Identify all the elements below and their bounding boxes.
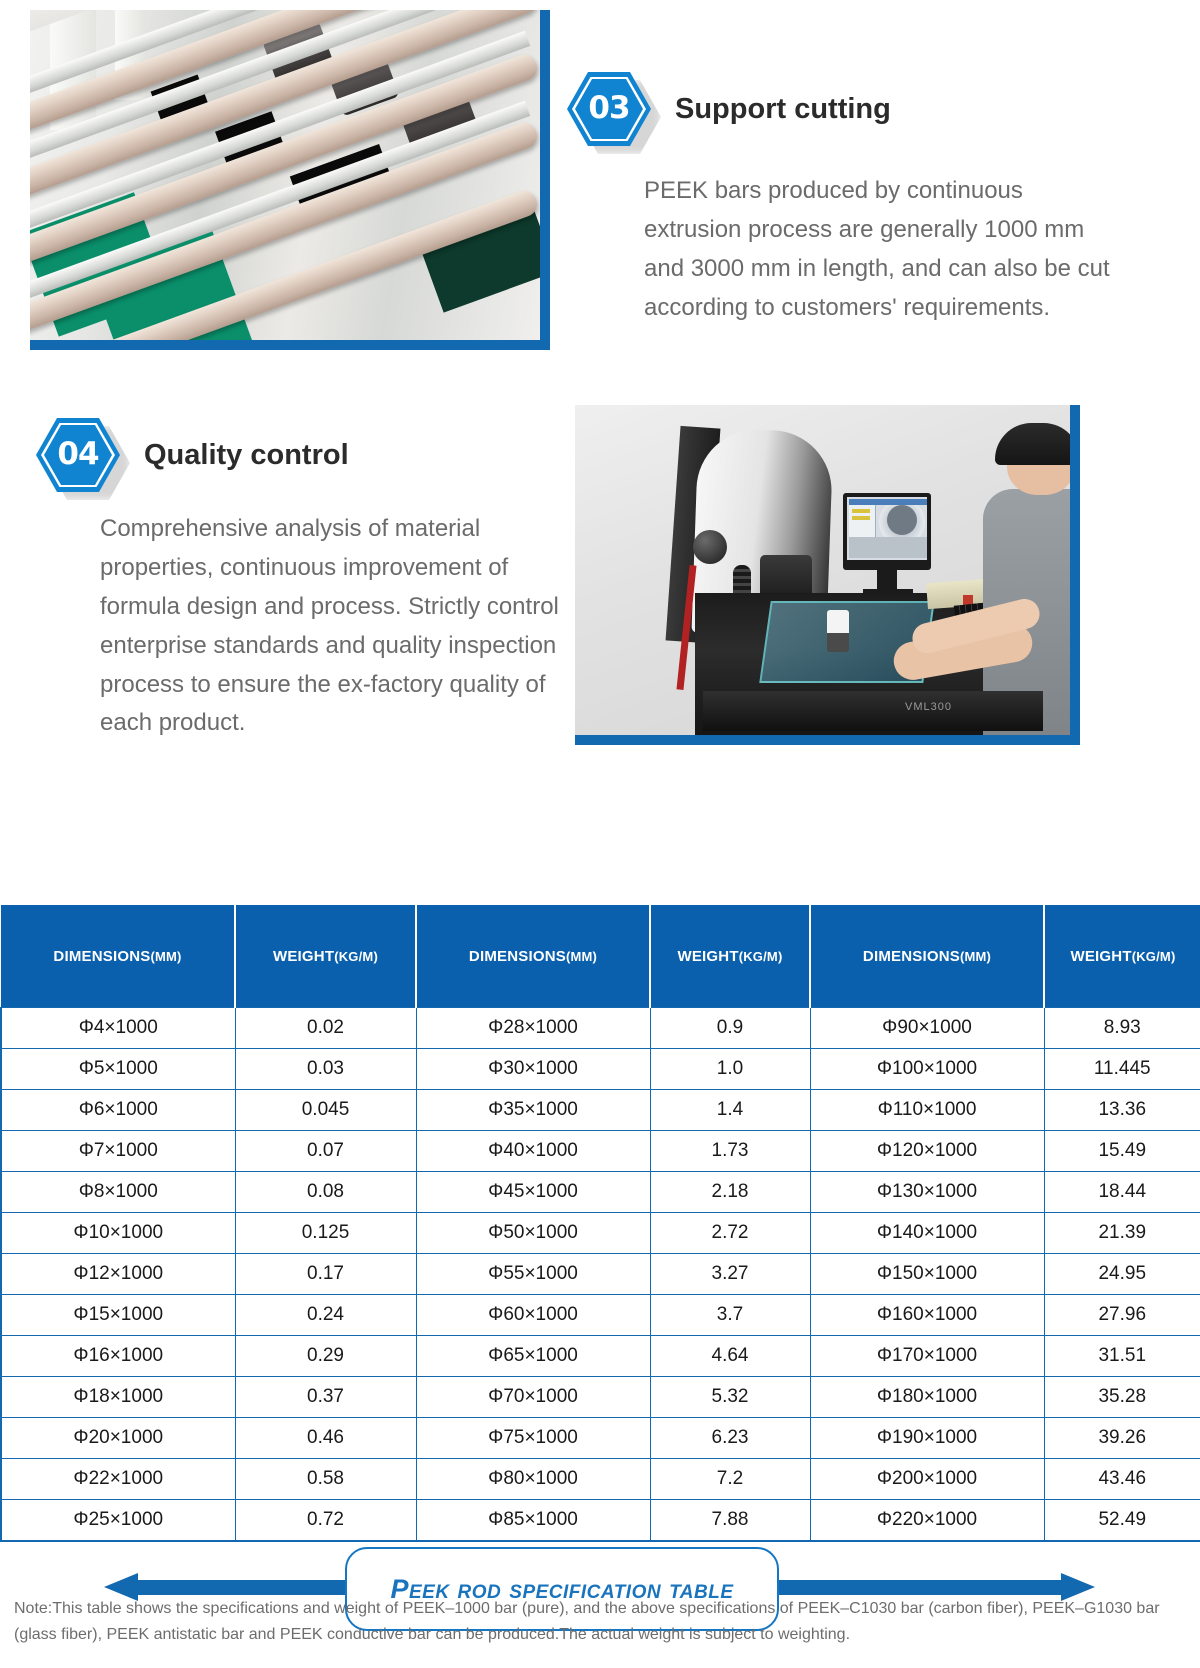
- cell-dimensions: Φ28×1000: [416, 1008, 650, 1049]
- cell-dimensions: Φ120×1000: [810, 1131, 1044, 1172]
- cell-weight: 2.18: [650, 1172, 810, 1213]
- column-header-dimensions-1: DIMENSIONS(MM): [1, 905, 235, 1008]
- header-unit: (MM): [960, 949, 991, 964]
- header-unit: (KG/M): [739, 949, 783, 964]
- cell-dimensions: Φ20×1000: [1, 1418, 235, 1459]
- column-header-dimensions-2: DIMENSIONS(MM): [416, 905, 650, 1008]
- header-main: DIMENSIONS: [863, 948, 960, 965]
- table-header: DIMENSIONS(MM) WEIGHT(KG/M) DIMENSIONS(M…: [1, 905, 1200, 1008]
- cell-weight: 0.46: [235, 1418, 416, 1459]
- cell-weight: 31.51: [1044, 1336, 1200, 1377]
- header-main: WEIGHT: [677, 948, 738, 965]
- cell-dimensions: Φ190×1000: [810, 1418, 1044, 1459]
- cell-dimensions: Φ18×1000: [1, 1377, 235, 1418]
- cell-dimensions: Φ85×1000: [416, 1500, 650, 1542]
- photo-screen-field: [852, 509, 870, 513]
- table-row: Φ10×10000.125Φ50×10002.72Φ140×100021.39: [1, 1213, 1200, 1254]
- cell-weight: 0.08: [235, 1172, 416, 1213]
- table-row: Φ18×10000.37Φ70×10005.32Φ180×100035.28: [1, 1377, 1200, 1418]
- cell-dimensions: Φ4×1000: [1, 1008, 235, 1049]
- cell-dimensions: Φ65×1000: [416, 1336, 650, 1377]
- cell-weight: 6.23: [650, 1418, 810, 1459]
- photo-frame-quality-control: VML300: [575, 405, 1080, 745]
- cell-weight: 13.36: [1044, 1090, 1200, 1131]
- table-body: Φ4×10000.02Φ28×10000.9Φ90×10008.93Φ5×100…: [1, 1008, 1200, 1542]
- cell-dimensions: Φ140×1000: [810, 1213, 1044, 1254]
- column-header-dimensions-3: DIMENSIONS(MM): [810, 905, 1044, 1008]
- cell-weight: 15.49: [1044, 1131, 1200, 1172]
- section-title: Support cutting: [675, 93, 891, 126]
- section-title: Quality control: [144, 439, 349, 472]
- header-main: WEIGHT: [1070, 948, 1131, 965]
- cell-weight: 0.125: [235, 1213, 416, 1254]
- cell-dimensions: Φ35×1000: [416, 1090, 650, 1131]
- cell-dimensions: Φ60×1000: [416, 1295, 650, 1336]
- cell-weight: 1.4: [650, 1090, 810, 1131]
- table-row: Φ16×10000.29Φ65×10004.64Φ170×100031.51: [1, 1336, 1200, 1377]
- cell-weight: 21.39: [1044, 1213, 1200, 1254]
- cell-weight: 0.17: [235, 1254, 416, 1295]
- cell-weight: 5.32: [650, 1377, 810, 1418]
- cell-dimensions: Φ55×1000: [416, 1254, 650, 1295]
- cell-weight: 3.27: [650, 1254, 810, 1295]
- cell-dimensions: Φ75×1000: [416, 1418, 650, 1459]
- cell-weight: 27.96: [1044, 1295, 1200, 1336]
- cell-weight: 0.37: [235, 1377, 416, 1418]
- cell-dimensions: Φ25×1000: [1, 1500, 235, 1542]
- section-body-text: PEEK bars produced by continuous extrusi…: [644, 172, 1114, 328]
- cell-weight: 1.73: [650, 1131, 810, 1172]
- cell-weight: 1.0: [650, 1049, 810, 1090]
- cell-weight: 4.64: [650, 1336, 810, 1377]
- section-03-heading: 03 Support cutting: [567, 72, 891, 146]
- cell-weight: 0.03: [235, 1049, 416, 1090]
- header-main: WEIGHT: [273, 948, 334, 965]
- photo-frame-support-cutting: [30, 10, 550, 350]
- cell-weight: 0.72: [235, 1500, 416, 1542]
- cell-dimensions: Φ8×1000: [1, 1172, 235, 1213]
- section-body-text: Comprehensive analysis of material prope…: [100, 510, 570, 743]
- cell-dimensions: Φ50×1000: [416, 1213, 650, 1254]
- cell-weight: 39.26: [1044, 1418, 1200, 1459]
- cell-weight: 0.24: [235, 1295, 416, 1336]
- cell-dimensions: Φ180×1000: [810, 1377, 1044, 1418]
- cell-weight: 3.7: [650, 1295, 810, 1336]
- table-row: Φ6×10000.045Φ35×10001.4Φ110×100013.36: [1, 1090, 1200, 1131]
- cell-weight: 0.07: [235, 1131, 416, 1172]
- cell-dimensions: Φ150×1000: [810, 1254, 1044, 1295]
- cell-dimensions: Φ100×1000: [810, 1049, 1044, 1090]
- cell-weight: 11.445: [1044, 1049, 1200, 1090]
- cell-dimensions: Φ45×1000: [416, 1172, 650, 1213]
- cell-weight: 0.02: [235, 1008, 416, 1049]
- cell-weight: 8.93: [1044, 1008, 1200, 1049]
- cell-weight: 2.72: [650, 1213, 810, 1254]
- photo-screen-lower-pane: [849, 537, 927, 558]
- photo-machine-model-label: VML300: [905, 701, 952, 713]
- cell-weight: 43.46: [1044, 1459, 1200, 1500]
- table-note: Note:This table shows the specifications…: [14, 1596, 1186, 1649]
- section-number: 04: [57, 439, 98, 472]
- column-header-weight-2: WEIGHT(KG/M): [650, 905, 810, 1008]
- cell-dimensions: Φ40×1000: [416, 1131, 650, 1172]
- table-row: Φ22×10000.58Φ80×10007.2Φ200×100043.46: [1, 1459, 1200, 1500]
- cell-weight: 0.29: [235, 1336, 416, 1377]
- cell-dimensions: Φ80×1000: [416, 1459, 650, 1500]
- cell-dimensions: Φ15×1000: [1, 1295, 235, 1336]
- hexagon-badge-icon: 04: [36, 418, 120, 492]
- hexagon-badge-icon: 03: [567, 72, 651, 146]
- cell-dimensions: Φ90×1000: [810, 1008, 1044, 1049]
- peek-rods-conveyor-photo: [30, 10, 540, 340]
- cell-dimensions: Φ170×1000: [810, 1336, 1044, 1377]
- cell-dimensions: Φ130×1000: [810, 1172, 1044, 1213]
- table-row: Φ7×10000.07Φ40×10001.73Φ120×100015.49: [1, 1131, 1200, 1172]
- cell-dimensions: Φ22×1000: [1, 1459, 235, 1500]
- section-support-cutting: 03 Support cutting PEEK bars produced by…: [0, 0, 1200, 385]
- cell-weight: 24.95: [1044, 1254, 1200, 1295]
- vision-measuring-machine-photo: VML300: [575, 405, 1070, 735]
- cell-dimensions: Φ5×1000: [1, 1049, 235, 1090]
- cell-weight: 0.045: [235, 1090, 416, 1131]
- photo-screen-measured-circle: [887, 505, 917, 535]
- photo-operator-cap: [995, 423, 1070, 465]
- header-unit: (MM): [150, 949, 181, 964]
- table-row: Φ4×10000.02Φ28×10000.9Φ90×10008.93: [1, 1008, 1200, 1049]
- spec-table-banner: Peek rod specification table: [0, 770, 1200, 880]
- header-unit: (KG/M): [1132, 949, 1176, 964]
- photo-sample-part: [827, 610, 849, 652]
- column-header-weight-1: WEIGHT(KG/M): [235, 905, 416, 1008]
- cell-dimensions: Φ12×1000: [1, 1254, 235, 1295]
- header-main: DIMENSIONS: [469, 948, 566, 965]
- cell-dimensions: Φ16×1000: [1, 1336, 235, 1377]
- cell-dimensions: Φ7×1000: [1, 1131, 235, 1172]
- section-04-heading: 04 Quality control: [36, 418, 349, 492]
- cell-weight: 7.2: [650, 1459, 810, 1500]
- photo-screen-field: [852, 516, 870, 520]
- table-row: Φ20×10000.46Φ75×10006.23Φ190×100039.26: [1, 1418, 1200, 1459]
- table-row: Φ25×10000.72Φ85×10007.88Φ220×100052.49: [1, 1500, 1200, 1542]
- section-number: 03: [588, 93, 629, 126]
- table-header-row: DIMENSIONS(MM) WEIGHT(KG/M) DIMENSIONS(M…: [1, 905, 1200, 1008]
- cell-weight: 52.49: [1044, 1500, 1200, 1542]
- arrow-right-bar: [768, 1580, 1063, 1595]
- header-unit: (KG/M): [334, 949, 378, 964]
- cell-dimensions: Φ110×1000: [810, 1090, 1044, 1131]
- cell-weight: 0.58: [235, 1459, 416, 1500]
- header-main: DIMENSIONS: [53, 948, 150, 965]
- cell-dimensions: Φ200×1000: [810, 1459, 1044, 1500]
- cell-weight: 7.88: [650, 1500, 810, 1542]
- cell-dimensions: Φ6×1000: [1, 1090, 235, 1131]
- column-header-weight-3: WEIGHT(KG/M): [1044, 905, 1200, 1008]
- table-row: Φ8×10000.08Φ45×10002.18Φ130×100018.44: [1, 1172, 1200, 1213]
- photo-machine-base: [703, 691, 1043, 731]
- table-row: Φ15×10000.24Φ60×10003.7Φ160×100027.96: [1, 1295, 1200, 1336]
- cell-weight: 35.28: [1044, 1377, 1200, 1418]
- table-row: Φ5×10000.03Φ30×10001.0Φ100×100011.445: [1, 1049, 1200, 1090]
- peek-rod-specification-table: DIMENSIONS(MM) WEIGHT(KG/M) DIMENSIONS(M…: [0, 905, 1200, 1542]
- cell-dimensions: Φ220×1000: [810, 1500, 1044, 1542]
- cell-dimensions: Φ70×1000: [416, 1377, 650, 1418]
- cell-weight: 0.9: [650, 1008, 810, 1049]
- cell-dimensions: Φ10×1000: [1, 1213, 235, 1254]
- photo-screen-titlebar: [849, 499, 927, 505]
- cell-weight: 18.44: [1044, 1172, 1200, 1213]
- photo-machine-knob: [693, 530, 727, 564]
- cell-dimensions: Φ30×1000: [416, 1049, 650, 1090]
- cell-dimensions: Φ160×1000: [810, 1295, 1044, 1336]
- table-row: Φ12×10000.17Φ55×10003.27Φ150×100024.95: [1, 1254, 1200, 1295]
- header-unit: (MM): [566, 949, 597, 964]
